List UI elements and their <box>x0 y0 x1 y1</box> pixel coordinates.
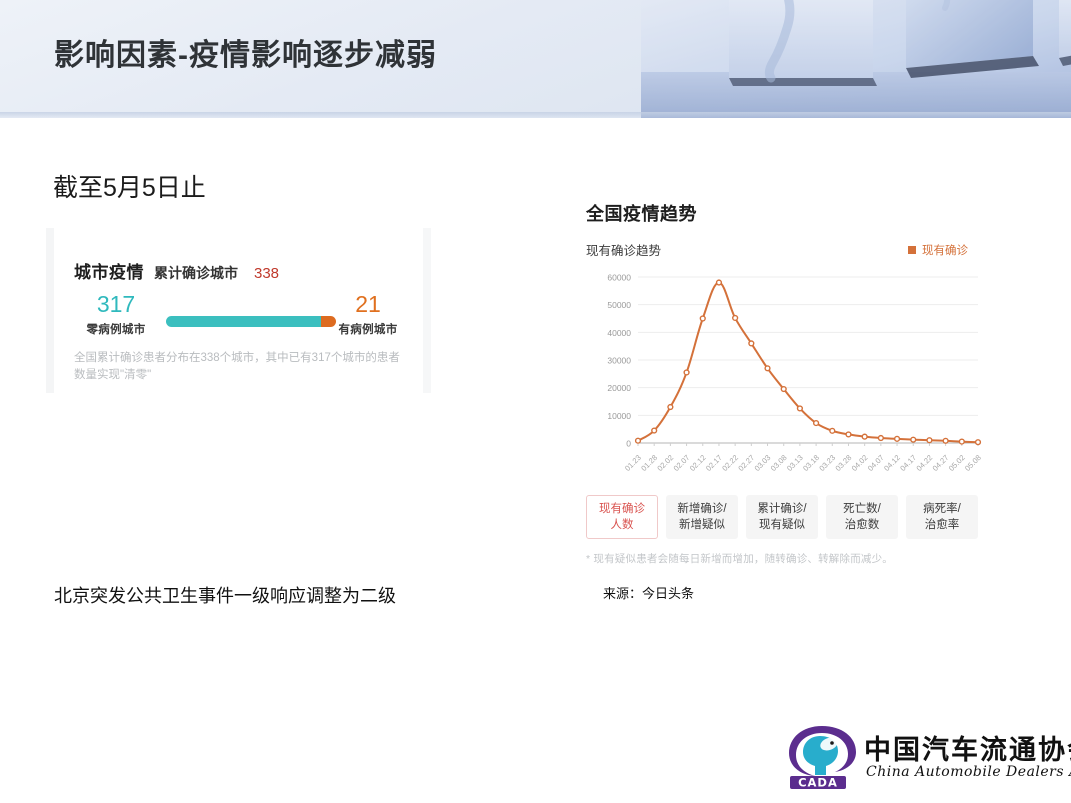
source-label: 来源：今日头条 <box>603 583 694 602</box>
svg-text:05.08: 05.08 <box>963 453 983 473</box>
city-card-total-value: 338 <box>254 265 279 282</box>
tab-label-line1: 病死率/ <box>923 501 961 517</box>
tab-existing-confirmed[interactable]: 现有确诊 人数 <box>586 495 658 539</box>
zero-case-value: 317 <box>76 291 156 317</box>
svg-text:03.13: 03.13 <box>785 453 805 473</box>
city-card-header: 城市疫情 累计确诊城市 338 <box>74 258 279 283</box>
svg-text:04.27: 04.27 <box>931 453 951 473</box>
has-case-value: 21 <box>326 291 410 317</box>
svg-text:02.07: 02.07 <box>672 453 692 473</box>
legend-label: 现有确诊 <box>922 242 968 258</box>
header-decorative-boxes <box>641 0 1071 118</box>
svg-text:03.18: 03.18 <box>801 453 821 473</box>
beijing-response-note: 北京突发公共卫生事件一级响应调整为二级 <box>54 582 396 608</box>
card-left-edge <box>46 228 54 393</box>
card-right-edge <box>423 228 431 393</box>
tab-label-line1: 累计确诊/ <box>757 501 806 517</box>
cada-logo-chinese-name: 中国汽车流通协会 <box>864 728 1071 767</box>
tab-cumulative-confirmed-suspected[interactable]: 累计确诊/ 现有疑似 <box>746 495 818 539</box>
slide-header: 影响因素-疫情影响逐步减弱 <box>0 0 1071 118</box>
svg-text:03.08: 03.08 <box>769 453 789 473</box>
chart-title: 全国疫情趋势 <box>586 200 986 226</box>
tab-fatality-recovery-rate[interactable]: 病死率/ 治愈率 <box>906 495 978 539</box>
svg-text:02.22: 02.22 <box>720 453 740 473</box>
tab-label-line2: 新增疑似 <box>679 517 725 533</box>
svg-text:04.22: 04.22 <box>915 453 935 473</box>
header-divider <box>0 112 1071 118</box>
zero-case-label: 零病例城市 <box>76 321 156 337</box>
svg-text:02.12: 02.12 <box>688 453 708 473</box>
chart-subheader: 现有确诊趋势 现有确诊 <box>586 240 986 259</box>
legend-swatch-icon <box>908 246 916 254</box>
tab-label-line1: 新增确诊/ <box>677 501 726 517</box>
tab-new-confirmed-suspected[interactable]: 新增确诊/ 新增疑似 <box>666 495 738 539</box>
svg-text:03.03: 03.03 <box>753 453 773 473</box>
svg-text:20000: 20000 <box>607 383 631 393</box>
tab-label-line1: 死亡数/ <box>843 501 881 517</box>
line-chart-svg: 010000200003000040000500006000001.2301.2… <box>586 269 986 489</box>
asof-date-label: 截至5月5日止 <box>53 168 206 204</box>
chart-metric-tabs[interactable]: 现有确诊 人数 新增确诊/ 新增疑似 累计确诊/ 现有疑似 死亡数/ 治愈数 病… <box>586 495 986 539</box>
svg-text:0: 0 <box>626 439 631 449</box>
progress-bar-teal-segment <box>166 316 326 327</box>
chart-subtitle: 现有确诊趋势 <box>586 240 661 259</box>
city-epidemic-card: 城市疫情 累计确诊城市 338 317 零病例城市 21 有病例城市 全国累计确… <box>46 228 431 393</box>
svg-text:CADA: CADA <box>798 776 838 790</box>
page-title: 影响因素-疫情影响逐步减弱 <box>54 30 437 74</box>
svg-text:03.23: 03.23 <box>817 453 837 473</box>
slide: 影响因素-疫情影响逐步减弱 截至5月5日止 城市疫情 累计确诊城市 338 31… <box>0 0 1071 803</box>
tab-label-line2: 现有疑似 <box>759 517 805 533</box>
chart-plot-area: 010000200003000040000500006000001.2301.2… <box>586 269 986 489</box>
svg-text:02.27: 02.27 <box>736 453 756 473</box>
svg-text:40000: 40000 <box>607 328 631 338</box>
tab-label-line2: 治愈率 <box>925 517 960 533</box>
tab-deaths-recovered[interactable]: 死亡数/ 治愈数 <box>826 495 898 539</box>
cada-logo-english-name: China Automobile Dealers Association <box>866 764 1071 780</box>
epidemic-trend-panel: 全国疫情趋势 现有确诊趋势 现有确诊 010000200003000040000… <box>586 200 986 565</box>
tab-label-line2: 人数 <box>611 517 634 533</box>
zero-case-stat: 317 零病例城市 <box>76 291 156 337</box>
has-case-label: 有病例城市 <box>326 321 410 337</box>
svg-text:04.07: 04.07 <box>866 453 886 473</box>
cada-logo-mark-icon: CADA <box>786 722 858 790</box>
city-card-subtitle: 累计确诊城市 <box>154 263 238 283</box>
svg-text:04.17: 04.17 <box>898 453 918 473</box>
city-stats-row: 317 零病例城市 21 有病例城市 <box>70 291 410 346</box>
has-case-stat: 21 有病例城市 <box>326 291 410 337</box>
chart-legend[interactable]: 现有确诊 <box>908 242 968 258</box>
city-progress-bar <box>166 316 336 327</box>
svg-text:04.02: 04.02 <box>850 453 870 473</box>
tab-label-line1: 现有确诊 <box>599 501 645 517</box>
tab-label-line2: 治愈数 <box>845 517 880 533</box>
svg-text:03.28: 03.28 <box>834 453 854 473</box>
cada-logo: CADA 中国汽车流通协会 China Automobile Dealers A… <box>786 722 1056 792</box>
city-card-note: 全国累计确诊患者分布在338个城市，其中已有317个城市的患者数量实现"清零" <box>74 350 404 384</box>
svg-text:02.17: 02.17 <box>704 453 724 473</box>
svg-text:02.02: 02.02 <box>655 453 675 473</box>
svg-text:01.28: 01.28 <box>639 453 659 473</box>
chart-footnote: * 现有疑似患者会随每日新增而增加，随转确诊、转解除而减少。 <box>586 551 986 566</box>
svg-text:30000: 30000 <box>607 356 631 366</box>
svg-text:10000: 10000 <box>607 411 631 421</box>
svg-text:05.02: 05.02 <box>947 453 967 473</box>
svg-text:60000: 60000 <box>607 273 631 283</box>
svg-text:50000: 50000 <box>607 300 631 310</box>
svg-text:04.12: 04.12 <box>882 453 902 473</box>
city-card-title: 城市疫情 <box>74 258 144 283</box>
svg-text:01.23: 01.23 <box>623 453 643 473</box>
